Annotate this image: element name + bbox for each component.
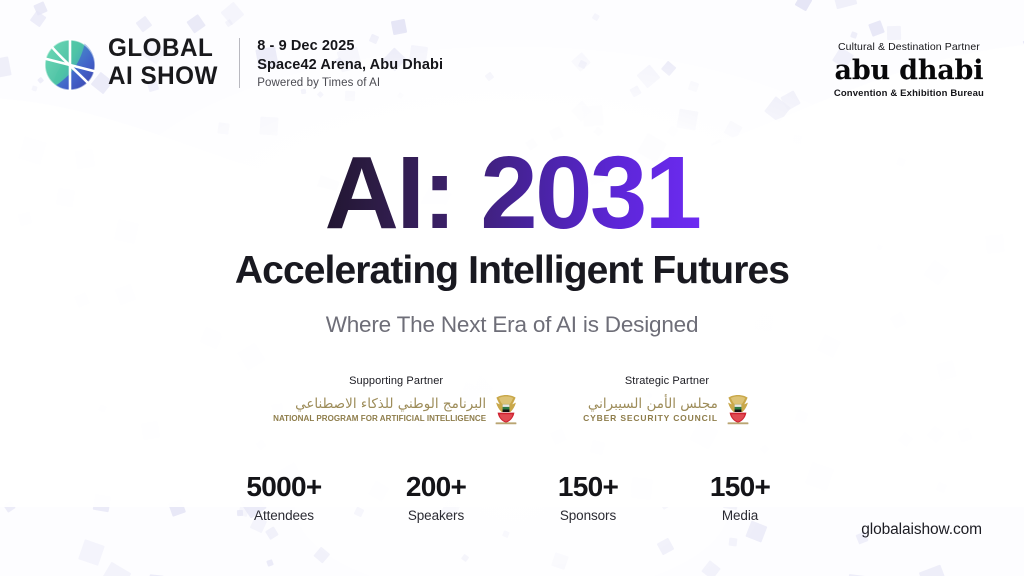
event-venue: Space42 Arena, Abu Dhabi [257,56,443,75]
hero-tagline: Where The Next Era of AI is Designed [0,311,1024,339]
stat-value: 5000+ [208,470,360,503]
event-announcement-slide: GLOBAL AI SHOW 8 - 9 Dec 2025 Space42 Ar… [0,0,1024,576]
stat-label: Speakers [360,506,512,525]
stat-media: 150+ Media [664,470,816,525]
brand-wordmark: GLOBAL AI SHOW [108,36,221,89]
partners-row: Supporting Partner البرنامج الوطني للذكا… [0,374,1024,425]
strategic-partner-arabic-name: مجلس الأمن السيبراني [583,396,718,413]
stat-label: Media [664,506,816,525]
cultural-partner-name: abu dhabi [834,56,984,86]
supporting-partner-block[interactable]: Supporting Partner البرنامج الوطني للذكا… [273,374,519,425]
event-meta: 8 - 9 Dec 2025 Space42 Arena, Abu Dhabi … [257,37,443,92]
globe-sphere-icon [44,39,96,91]
brand-divider [239,38,240,88]
cultural-partner-kicker: Cultural & Destination Partner [834,40,984,54]
supporting-partner-kicker: Supporting Partner [273,374,519,389]
event-date: 8 - 9 Dec 2025 [257,37,443,56]
supporting-partner-logo: البرنامج الوطني للذكاء الاصطناعي NATIONA… [273,394,519,425]
cultural-partner-subtitle: Convention & Exhibition Bureau [834,87,984,100]
cultural-destination-partner-logo[interactable]: Cultural & Destination Partner abu dhabi… [834,40,984,100]
hero-section: AI: 2031 Accelerating Intelligent Future… [0,140,1024,339]
stat-label: Sponsors [512,506,664,525]
strategic-partner-latin-name: CYBER SECURITY COUNCIL [583,413,718,424]
brand-wordmark-line-1: GLOBAL [108,36,218,61]
supporting-partner-arabic-name: البرنامج الوطني للذكاء الاصطناعي [273,396,486,413]
stat-value: 200+ [360,470,512,503]
stat-speakers: 200+ Speakers [360,470,512,525]
stat-label: Attendees [208,506,360,525]
stat-attendees: 5000+ Attendees [208,470,360,525]
brand-lockup[interactable]: GLOBAL AI SHOW 8 - 9 Dec 2025 Space42 Ar… [44,36,443,92]
stat-value: 150+ [664,470,816,503]
hero-subtitle: Accelerating Intelligent Futures [0,248,1024,294]
stat-sponsors: 150+ Sponsors [512,470,664,525]
header: GLOBAL AI SHOW 8 - 9 Dec 2025 Space42 Ar… [0,0,1024,118]
uae-falcon-emblem-icon [725,394,751,425]
strategic-partner-kicker: Strategic Partner [583,374,751,389]
strategic-partner-logo: مجلس الأمن السيبراني CYBER SECURITY COUN… [583,394,751,425]
supporting-partner-latin-name: NATIONAL PROGRAM FOR ARTIFICIAL INTELLIG… [273,413,486,424]
stat-value: 150+ [512,470,664,503]
uae-falcon-emblem-icon [493,394,519,425]
website-url[interactable]: globalaishow.com [861,521,982,539]
strategic-partner-block[interactable]: Strategic Partner مجلس الأمن السيبراني C… [583,374,751,425]
brand-wordmark-line-2: AI SHOW [108,64,218,89]
page-title: AI: 2031 [324,140,699,246]
event-powered-by: Powered by Times of AI [257,75,443,92]
stats-row: 5000+ Attendees 200+ Speakers 150+ Spons… [0,470,1024,525]
